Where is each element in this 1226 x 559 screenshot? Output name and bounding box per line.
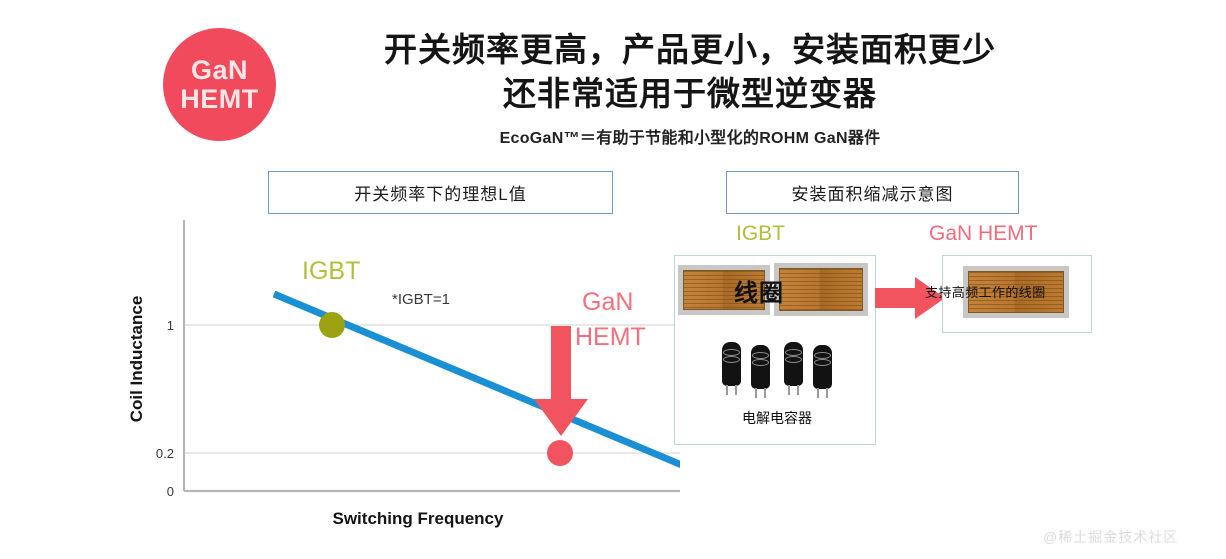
capacitors-label: 电解电容器 — [722, 408, 832, 428]
coil-label: 线圈 — [734, 273, 784, 308]
data-point-gan — [547, 440, 573, 466]
chart-label-gan-line1: GaN — [582, 288, 633, 316]
capacitor-3 — [784, 342, 803, 394]
gan-hemt-badge: GaN HEMT — [163, 28, 276, 141]
badge-line2: HEMT — [180, 85, 259, 114]
x-axis-title: Switching Frequency — [333, 509, 505, 528]
y-axis-title: Coil Inductance — [127, 296, 146, 423]
capacitor-1 — [722, 342, 741, 394]
diagram-title-gan: GaN HEMT — [929, 222, 1038, 246]
page-title: 开关频率更高，产品更小，安装面积更少 还非常适用于微型逆变器 — [330, 28, 1050, 115]
diagram-title-igbt: IGBT — [736, 222, 785, 246]
gan-coil-label: 支持高频工作的线圈 — [925, 282, 1046, 301]
capacitor-2 — [751, 345, 770, 397]
y-tick-label-1: 1 — [167, 318, 174, 333]
y-tick-label-0: 0 — [167, 484, 174, 499]
title-line-2: 还非常适用于微型逆变器 — [330, 72, 1050, 116]
section-header-right: 安装面积缩减示意图 — [726, 171, 1019, 214]
watermark: @稀土掘金技术社区 — [1043, 527, 1178, 547]
capacitor-4 — [813, 345, 832, 397]
title-line-1: 开关频率更高，产品更小，安装面积更少 — [330, 28, 1050, 72]
section-header-left: 开关频率下的理想L值 — [268, 171, 613, 214]
chart-annotation: *IGBT=1 — [392, 291, 450, 308]
data-point-igbt — [319, 312, 345, 338]
footprint-reduction-diagram: IGBT GaN HEMT 线圈 电解电容器 支持高频工作的线圈 — [670, 222, 1100, 472]
page-subtitle: EcoGaN™＝有助于节能和小型化的ROHM GaN器件 — [330, 124, 1050, 148]
badge-line1: GaN — [191, 56, 248, 85]
coil-inductance-chart: 1 0.2 0 IGBT GaN HEMT *IGBT=1 Switching … — [120, 214, 680, 544]
y-tick-label-0.2: 0.2 — [156, 446, 174, 461]
chart-label-gan-line2: HEMT — [575, 323, 646, 351]
coil-image-2 — [774, 263, 868, 316]
chart-label-igbt: IGBT — [302, 257, 360, 285]
